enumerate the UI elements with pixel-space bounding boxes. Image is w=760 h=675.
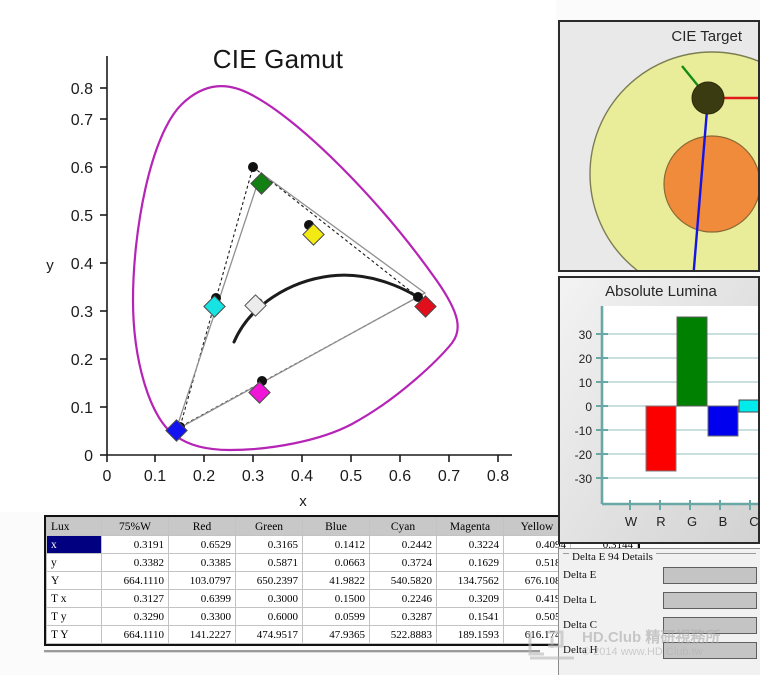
measured-point-magenta (249, 382, 270, 403)
delta-l-value-field[interactable] (663, 592, 757, 609)
delta-c-label: Delta C (563, 619, 597, 631)
cell[interactable]: 0.3000 (236, 590, 303, 608)
cell[interactable]: 0.1412 (303, 536, 370, 554)
lum-y-tick-n10: -10 (575, 424, 593, 438)
delta-e-label: Delta E (563, 569, 596, 581)
measured-points-group (166, 173, 436, 441)
cell[interactable]: 522.8883 (370, 626, 437, 644)
y-tick-labels: 30 20 10 0 -10 -20 -30 (575, 328, 593, 486)
delta-e-details-panel: Delta E 94 Details Delta E Delta L Delta… (558, 548, 760, 675)
table-col-cyan[interactable]: Cyan (370, 518, 437, 536)
cell[interactable]: 47.9365 (303, 626, 370, 644)
row-header-tcapy[interactable]: T Y (47, 626, 102, 644)
cell[interactable]: 189.1593 (437, 626, 504, 644)
bar-C (739, 400, 758, 412)
table-row[interactable]: T Y 664.1110 141.2227 474.9517 47.9365 5… (47, 626, 638, 644)
x-tick-7: 0.7 (438, 468, 460, 485)
cell[interactable]: 141.2227 (169, 626, 236, 644)
table-row[interactable]: T y 0.3290 0.3300 0.6000 0.0599 0.3287 0… (47, 608, 638, 626)
cell[interactable]: 41.9822 (303, 572, 370, 590)
x-tick-5: 0.5 (340, 468, 362, 485)
cell[interactable]: 0.3191 (102, 536, 169, 554)
y-axis-label: y (46, 257, 54, 274)
table-header: Lux 75%W Red Green Blue Cyan Magenta Yel… (47, 518, 638, 536)
measured-point-cyan (204, 296, 225, 317)
x-axis-label: x (299, 493, 307, 510)
lum-y-tick-20: 20 (579, 352, 593, 366)
lum-y-tick-30: 30 (579, 328, 593, 342)
measured-point-marker (692, 82, 724, 114)
cie-target-diagram (560, 22, 758, 270)
cell[interactable]: 0.2246 (370, 590, 437, 608)
cell[interactable]: 0.3300 (169, 608, 236, 626)
table-col-green[interactable]: Green (236, 518, 303, 536)
cie-gamut-chart: 0 0.1 0.2 0.3 0.4 0.5 0.6 0.7 0.8 0 0.1 … (0, 0, 556, 512)
cell[interactable]: 650.2397 (236, 572, 303, 590)
delta-l-row: Delta L (561, 592, 759, 613)
lum-y-tick-10: 10 (579, 376, 593, 390)
delta-h-label: Delta H (563, 644, 598, 656)
table-col-75w[interactable]: 75%W (102, 518, 169, 536)
target-points-group (175, 162, 423, 432)
x-tick-3: 0.3 (242, 468, 264, 485)
spectral-locus-path (133, 86, 458, 450)
cell[interactable]: 0.3224 (437, 536, 504, 554)
tolerance-inner-circle (664, 136, 758, 232)
measured-point-green (251, 173, 272, 194)
table-body: x 0.3191 0.6529 0.3165 0.1412 0.2442 0.3… (47, 536, 638, 644)
cell[interactable]: 664.1110 (102, 572, 169, 590)
bar-G (677, 317, 707, 406)
table-col-magenta[interactable]: Magenta (437, 518, 504, 536)
cell[interactable]: 103.0797 (169, 572, 236, 590)
cell[interactable]: 0.0663 (303, 554, 370, 572)
y-tick-6: 0.6 (71, 160, 93, 177)
delta-h-row: Delta H (561, 642, 759, 663)
lum-y-tick-n30: -30 (575, 472, 593, 486)
lum-cat-G: G (687, 514, 697, 529)
table-header-row: Lux 75%W Red Green Blue Cyan Magenta Yel… (47, 518, 638, 536)
delta-l-label: Delta L (563, 594, 596, 606)
cell[interactable]: 0.3382 (102, 554, 169, 572)
app-root: CIE Gamut (0, 0, 760, 675)
y-tick-5: 0.5 (71, 208, 93, 225)
y-tick-2: 0.2 (71, 352, 93, 369)
cell[interactable]: 664.1110 (102, 626, 169, 644)
absolute-luminance-panel: Absolute Lumina (558, 276, 760, 544)
x-category-labels: W R G B C (625, 514, 758, 529)
lum-y-tick-0: 0 (585, 400, 592, 414)
row-header-cap-y[interactable]: Y (47, 572, 102, 590)
y-tick-7: 0.7 (71, 112, 93, 129)
row-header-y[interactable]: y (47, 554, 102, 572)
cell[interactable]: 0.3385 (169, 554, 236, 572)
y-tick-4: 0.4 (71, 256, 93, 273)
gamut-axes (100, 56, 512, 462)
cell[interactable]: 0.5871 (236, 554, 303, 572)
table-col-blue[interactable]: Blue (303, 518, 370, 536)
cell[interactable]: 0.6399 (169, 590, 236, 608)
delta-c-value-field[interactable] (663, 617, 757, 634)
y-tick-1: 0.1 (71, 400, 93, 417)
table-row[interactable]: Y 664.1110 103.0797 650.2397 41.9822 540… (47, 572, 638, 590)
cell[interactable]: 0.3724 (370, 554, 437, 572)
target-point-green (248, 162, 258, 172)
measured-point-blue (166, 420, 187, 441)
lum-cat-R: R (656, 514, 665, 529)
cell[interactable]: 0.6000 (236, 608, 303, 626)
cell[interactable]: 0.2442 (370, 536, 437, 554)
table-row[interactable]: x 0.3191 0.6529 0.3165 0.1412 0.2442 0.3… (47, 536, 638, 554)
measured-point-white (245, 295, 266, 316)
delta-e-value-field[interactable] (663, 567, 757, 584)
cie-gamut-panel: CIE Gamut (0, 0, 556, 512)
cell[interactable]: 0.0599 (303, 608, 370, 626)
delta-e-row: Delta E (561, 567, 759, 588)
y-tick-8: 0.8 (71, 81, 93, 98)
gamut-x-tick-labels: 0 0.1 0.2 0.3 0.4 0.5 0.6 0.7 0.8 (103, 468, 510, 485)
table-row[interactable]: y 0.3382 0.3385 0.5871 0.0663 0.3724 0.1… (47, 554, 638, 572)
lum-y-tick-n20: -20 (575, 448, 593, 462)
cell[interactable]: 134.7562 (437, 572, 504, 590)
table-col-lux[interactable]: Lux (47, 518, 102, 536)
cell[interactable]: 0.3287 (370, 608, 437, 626)
x-tick-6: 0.6 (389, 468, 411, 485)
cie-target-panel: CIE Target (558, 20, 760, 272)
x-tick-2: 0.2 (193, 468, 215, 485)
cell[interactable]: 0.3209 (437, 590, 504, 608)
absolute-luminance-chart: 30 20 10 0 -10 -20 -30 W R G B (560, 278, 758, 542)
x-tick-0: 0 (103, 468, 112, 485)
x-tick-4: 0.4 (291, 468, 313, 485)
cell[interactable]: 540.5820 (370, 572, 437, 590)
bar-B (708, 406, 738, 436)
x-tick-1: 0.1 (144, 468, 166, 485)
measurements-table[interactable]: Lux 75%W Red Green Blue Cyan Magenta Yel… (46, 517, 638, 644)
cell[interactable]: 0.1541 (437, 608, 504, 626)
cell[interactable]: 474.9517 (236, 626, 303, 644)
table-row[interactable]: T x 0.3127 0.6399 0.3000 0.1500 0.2246 0… (47, 590, 638, 608)
row-header-ty[interactable]: T y (47, 608, 102, 626)
delta-e-groupbox-label: Delta E 94 Details (569, 551, 656, 563)
measurements-table-wrapper[interactable]: Lux 75%W Red Green Blue Cyan Magenta Yel… (44, 515, 640, 646)
gamut-y-tick-labels: 0 0.1 0.2 0.3 0.4 0.5 0.6 0.7 0.8 (71, 81, 93, 465)
lum-cat-W: W (625, 514, 638, 529)
lum-cat-C: C (749, 514, 758, 529)
cell[interactable]: 0.3290 (102, 608, 169, 626)
cell[interactable]: 0.3165 (236, 536, 303, 554)
cell[interactable]: 0.3127 (102, 590, 169, 608)
lum-cat-B: B (719, 514, 728, 529)
cell[interactable]: 0.1500 (303, 590, 370, 608)
delta-h-value-field[interactable] (663, 642, 757, 659)
delta-e-groupbox-border: Delta E 94 Details (563, 553, 756, 555)
delta-c-row: Delta C (561, 617, 759, 638)
cell[interactable]: 0.1629 (437, 554, 504, 572)
table-col-red[interactable]: Red (169, 518, 236, 536)
cell[interactable]: 0.6529 (169, 536, 236, 554)
y-tick-3: 0.3 (71, 304, 93, 321)
x-tick-8: 0.8 (487, 468, 509, 485)
row-header-x[interactable]: x (47, 536, 102, 554)
table-bottom-divider (44, 650, 540, 653)
y-tick-0: 0 (84, 448, 93, 465)
row-header-tx[interactable]: T x (47, 590, 102, 608)
bar-R (646, 406, 676, 471)
